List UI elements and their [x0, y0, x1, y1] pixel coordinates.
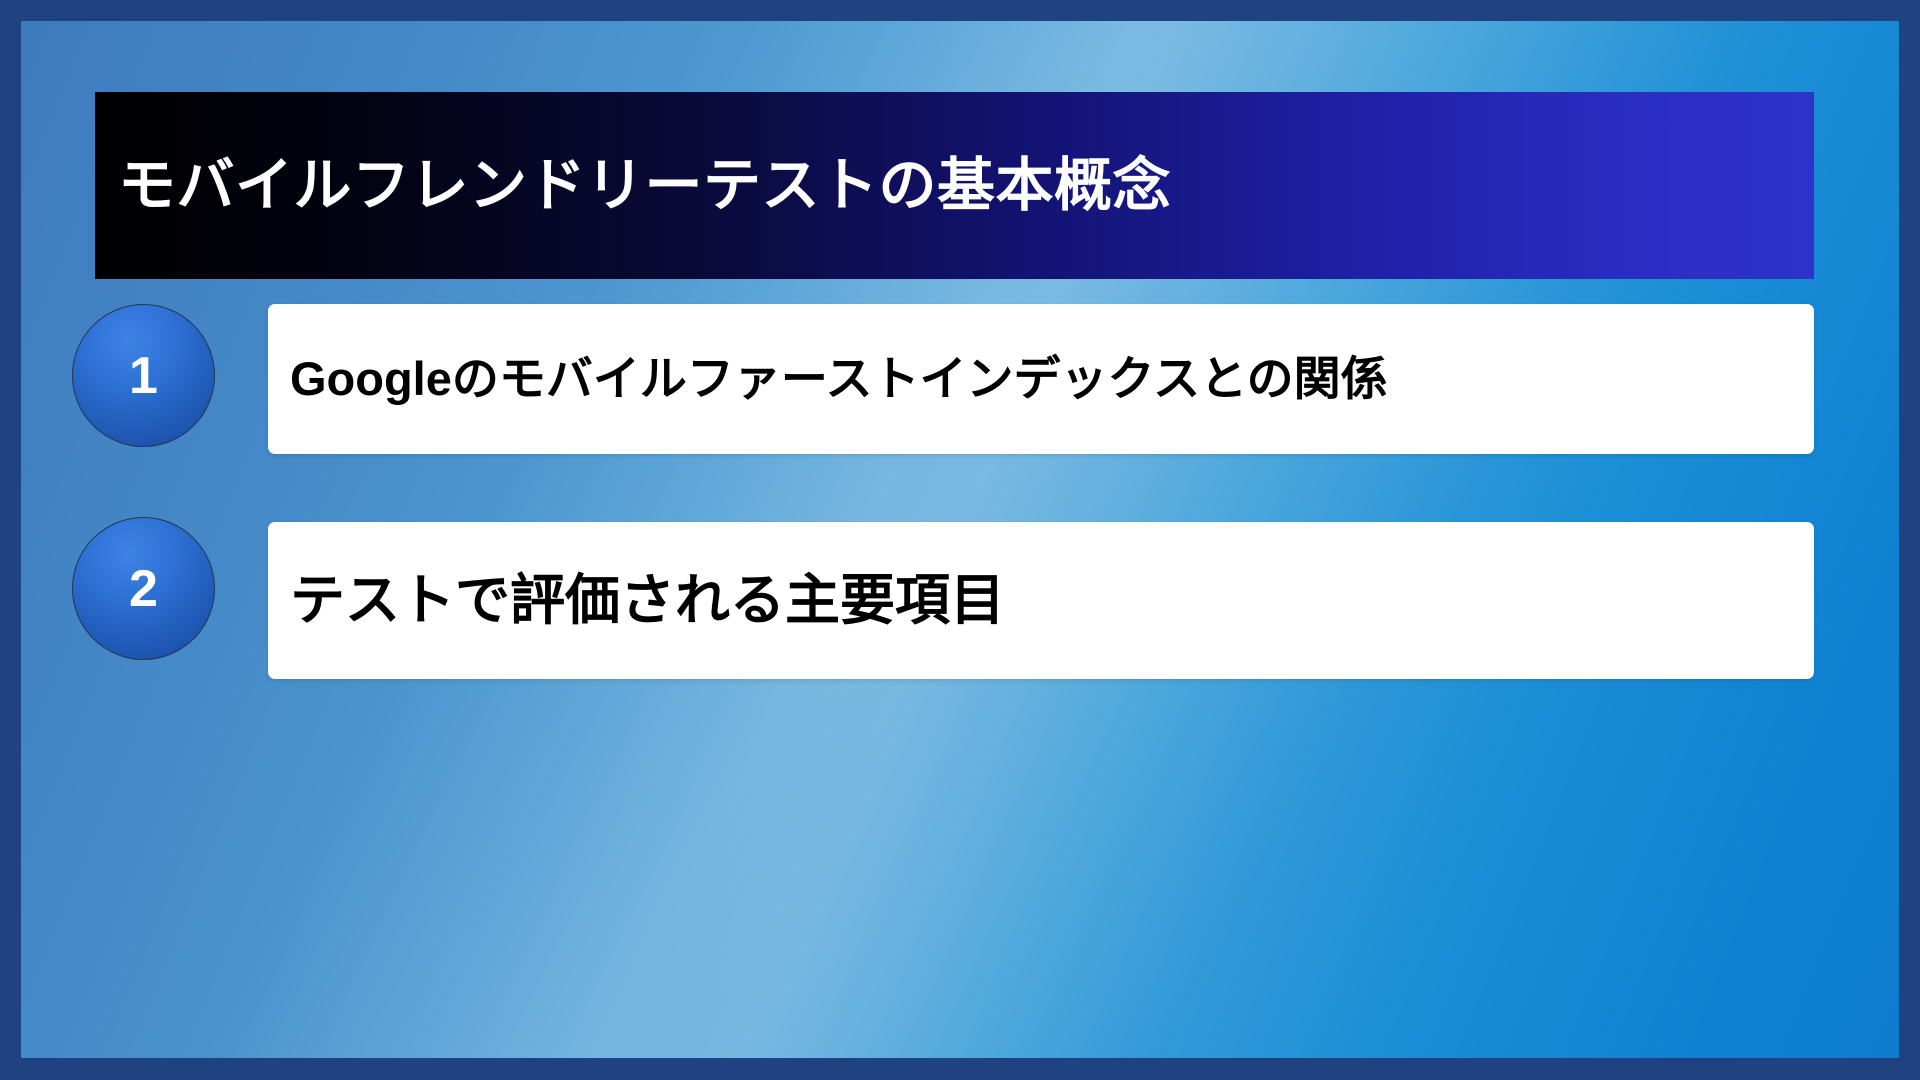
- list-item-number: 2: [129, 563, 158, 615]
- list-item-card[interactable]: テストで評価される主要項目: [268, 522, 1814, 679]
- slide-title-banner: モバイルフレンドリーテストの基本概念: [95, 92, 1814, 279]
- list-item-number-badge: 2: [72, 517, 215, 660]
- list-item-label: テストで評価される主要項目: [268, 569, 1005, 632]
- slide-frame: モバイルフレンドリーテストの基本概念 1 Googleのモバイルファーストインデ…: [0, 0, 1920, 1080]
- list-item-number-badge: 1: [72, 304, 215, 447]
- slide-title: モバイルフレンドリーテストの基本概念: [95, 154, 1171, 218]
- list-item-number: 1: [129, 350, 158, 402]
- list-item-label: Googleのモバイルファーストインデックスとの関係: [268, 352, 1388, 406]
- slide-background-panel: モバイルフレンドリーテストの基本概念 1 Googleのモバイルファーストインデ…: [21, 21, 1899, 1058]
- list-item-card[interactable]: Googleのモバイルファーストインデックスとの関係: [268, 304, 1814, 454]
